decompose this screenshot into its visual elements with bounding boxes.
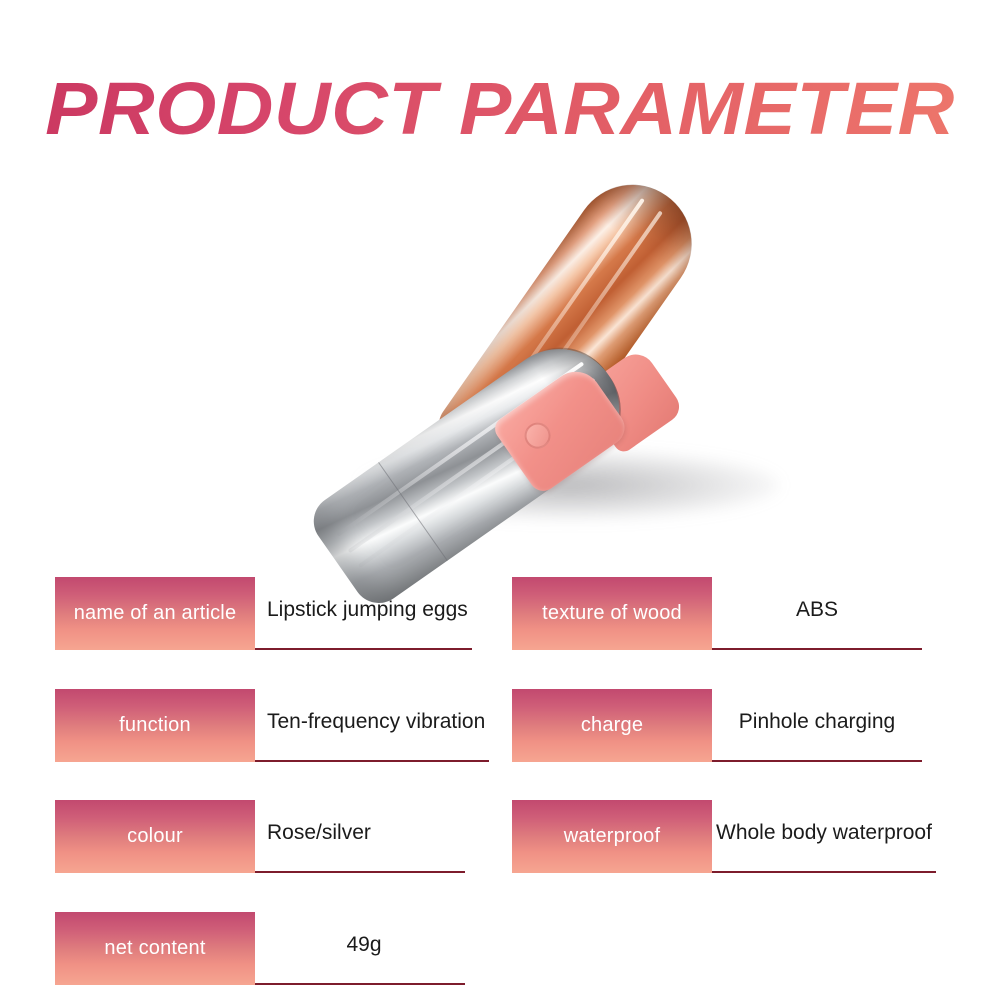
spec-value-cell: Ten-frequency vibration bbox=[255, 689, 489, 762]
spec-value-cell: Lipstick jumping eggs bbox=[255, 577, 472, 650]
spec-value: Ten-frequency vibration bbox=[259, 710, 485, 733]
product-parameter-page: PRODUCT PARAMETER name of an article Lip… bbox=[0, 0, 1000, 1000]
spec-row-name-of-an-article: name of an article Lipstick jumping eggs bbox=[55, 577, 465, 650]
spec-underline bbox=[255, 871, 465, 873]
spec-label: net content bbox=[55, 912, 255, 985]
spec-value: ABS bbox=[716, 598, 918, 621]
spec-value: Pinhole charging bbox=[716, 710, 918, 733]
spec-underline bbox=[255, 760, 489, 762]
spec-value-cell: 49g bbox=[255, 912, 465, 985]
spec-label: waterproof bbox=[512, 800, 712, 873]
spec-value-cell: Rose/silver bbox=[255, 800, 465, 873]
spec-underline bbox=[255, 983, 465, 985]
product-image bbox=[150, 130, 850, 550]
spec-row-charge: charge Pinhole charging bbox=[512, 689, 922, 762]
spec-value: Whole body waterproof bbox=[716, 821, 932, 844]
spec-value-cell: Whole body waterproof bbox=[712, 800, 936, 873]
spec-row-waterproof: waterproof Whole body waterproof bbox=[512, 800, 922, 873]
spec-label: colour bbox=[55, 800, 255, 873]
spec-underline bbox=[712, 760, 922, 762]
spec-value: 49g bbox=[259, 933, 461, 956]
spec-row-texture-of-wood: texture of wood ABS bbox=[512, 577, 922, 650]
spec-value: Lipstick jumping eggs bbox=[259, 598, 468, 621]
power-button-icon bbox=[519, 418, 555, 454]
spec-underline bbox=[712, 648, 922, 650]
spec-value-cell: Pinhole charging bbox=[712, 689, 922, 762]
spec-row-net-content: net content 49g bbox=[55, 912, 465, 985]
rose-tip-shade bbox=[585, 162, 715, 277]
spec-table: name of an article Lipstick jumping eggs… bbox=[0, 555, 1000, 985]
spec-label: charge bbox=[512, 689, 712, 762]
spec-row-function: function Ten-frequency vibration bbox=[55, 689, 465, 762]
spec-underline bbox=[712, 871, 936, 873]
spec-value: Rose/silver bbox=[259, 821, 461, 844]
spec-label: function bbox=[55, 689, 255, 762]
spec-row-colour: colour Rose/silver bbox=[55, 800, 465, 873]
spec-value-cell: ABS bbox=[712, 577, 922, 650]
spec-label: name of an article bbox=[55, 577, 255, 650]
spec-label: texture of wood bbox=[512, 577, 712, 650]
spec-underline bbox=[255, 648, 472, 650]
